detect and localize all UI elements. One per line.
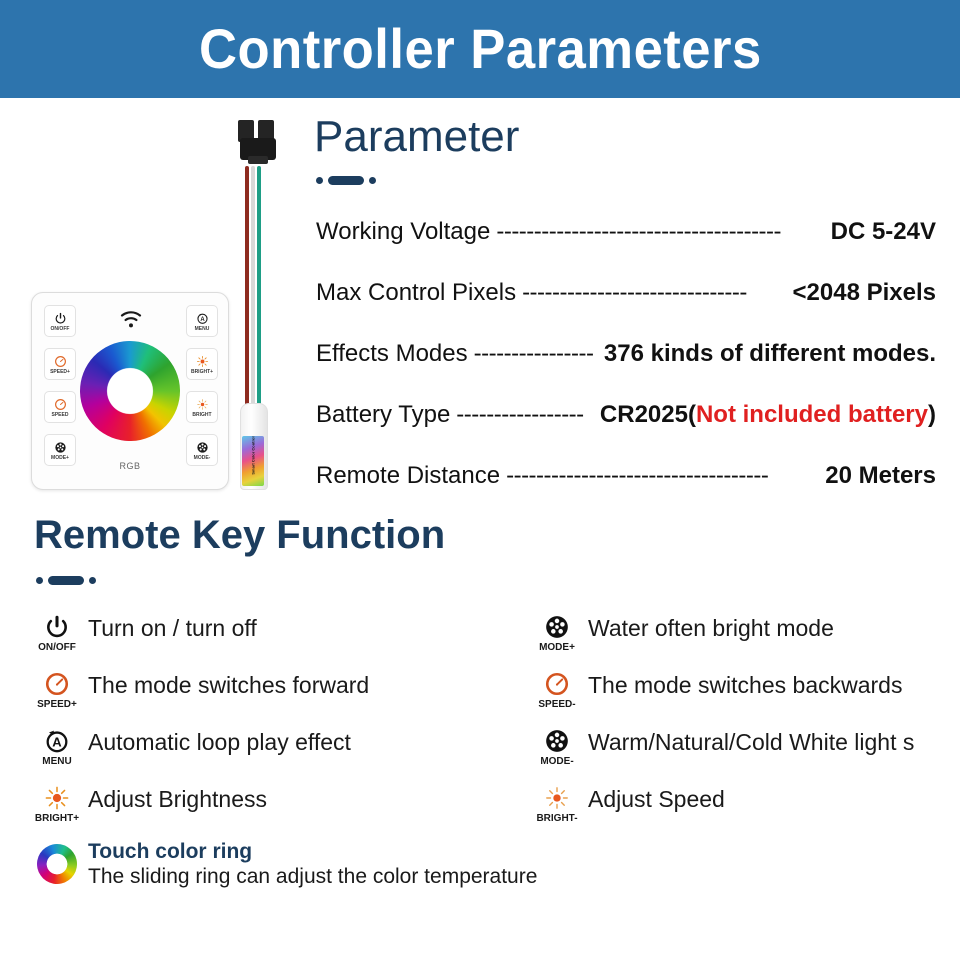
key-caption: ON/OFF xyxy=(38,643,76,653)
auto-loop-icon: A xyxy=(44,726,70,756)
parameter-value: CR2025 xyxy=(600,401,688,429)
controller-product-image: Smart Color Control xyxy=(232,118,290,488)
key-function-row: BRIGHT+ Adjust Brightness xyxy=(34,783,504,840)
key-function-row: A MENU Automatic loop play effect xyxy=(34,726,504,783)
key-icon-speed-minus: SPEED- xyxy=(534,669,580,710)
controller-label: Smart Color Control xyxy=(242,436,264,486)
power-icon xyxy=(44,612,70,642)
page-title: Controller Parameters xyxy=(199,21,762,77)
key-function-row: SPEED- The mode switches backwards xyxy=(534,669,960,726)
parameter-value: DC 5-24V xyxy=(831,218,936,246)
key-icon-speed-plus: SPEED+ xyxy=(34,669,80,710)
key-function-row: SPEED+ The mode switches forward xyxy=(34,669,504,726)
touch-color-ring-row: Touch color ring The sliding ring can ad… xyxy=(34,840,934,890)
remote-control-panel-image: ON/OFF SPEED+ SPEED xyxy=(31,292,229,490)
key-function-left-column: ON/OFF Turn on / turn off SPEED+ The mod… xyxy=(34,612,504,840)
key-description: The mode switches backwards xyxy=(580,669,960,699)
remote-button-caption: BRIGHT+ xyxy=(191,370,213,375)
sun-icon xyxy=(44,783,70,813)
divider-dot-right xyxy=(369,177,376,184)
key-function-row: MODE- Warm/Natural/Cold White light s xyxy=(534,726,960,783)
parameter-label: Remote Distance xyxy=(316,462,500,490)
key-description: Automatic loop play effect xyxy=(80,726,504,756)
remote-button-caption: ON/OFF xyxy=(51,327,70,332)
gauge-icon xyxy=(544,669,570,699)
parameter-note-open-paren: ( xyxy=(688,401,696,429)
gauge-icon xyxy=(44,669,70,699)
key-function-right-column: MODE+ Water often bright mode SPEED- The… xyxy=(534,612,960,840)
key-caption: SPEED- xyxy=(538,700,575,710)
touch-color-ring-description: The sliding ring can adjust the color te… xyxy=(88,864,934,890)
parameter-leader-dashes: ----------------- xyxy=(450,401,600,429)
parameter-row: Max Control Pixels ---------------------… xyxy=(316,279,936,340)
gauge-icon xyxy=(54,353,67,369)
parameter-label: Battery Type xyxy=(316,401,450,429)
key-icon-menu: A MENU xyxy=(34,726,80,767)
parameter-value: 20 Meters xyxy=(825,462,936,490)
cable-wire-white xyxy=(251,166,255,416)
color-ring-wheel xyxy=(29,836,85,892)
auto-loop-icon: A xyxy=(196,310,209,326)
key-description: Adjust Speed xyxy=(580,783,960,813)
parameter-label: Max Control Pixels xyxy=(316,279,516,307)
key-caption: BRIGHT- xyxy=(536,814,577,824)
parameter-label: Working Voltage xyxy=(316,218,490,246)
remote-button-menu[interactable]: A MENU xyxy=(186,305,218,337)
remote-button-speed-plus[interactable]: SPEED+ xyxy=(44,348,76,380)
remote-button-speed-minus[interactable]: SPEED xyxy=(44,391,76,423)
remote-button-caption: SPEED+ xyxy=(50,370,70,375)
gauge-icon xyxy=(54,396,67,412)
parameter-leader-dashes: ---------------- xyxy=(468,340,604,368)
remote-rgb-label: RGB xyxy=(32,461,228,471)
parameter-label: Effects Modes xyxy=(316,340,468,368)
key-description: Water often bright mode xyxy=(580,612,960,642)
power-icon xyxy=(54,310,67,326)
divider-dot-left xyxy=(316,177,323,184)
key-description: Turn on / turn off xyxy=(80,612,504,642)
remote-button-bright-plus[interactable]: BRIGHT+ xyxy=(186,348,218,380)
key-icon-mode-minus: MODE- xyxy=(534,726,580,767)
key-icon-bright-minus: BRIGHT- xyxy=(534,783,580,824)
key-caption: MODE- xyxy=(540,757,573,767)
cable-wire-red xyxy=(245,166,249,416)
remote-button-caption: MENU xyxy=(195,327,210,332)
key-caption: MODE+ xyxy=(539,643,575,653)
remote-key-section-heading: Remote Key Function xyxy=(34,515,445,555)
key-icon-onoff: ON/OFF xyxy=(34,612,80,653)
touch-color-ring-title: Touch color ring xyxy=(88,840,934,864)
divider-dot-left xyxy=(36,577,43,584)
remote-button-bright-minus[interactable]: BRIGHT xyxy=(186,391,218,423)
key-description: Warm/Natural/Cold White light s xyxy=(580,726,960,756)
header-banner: Controller Parameters xyxy=(0,0,960,98)
parameter-row: Working Voltage ------------------------… xyxy=(316,218,936,279)
mode-dots-icon xyxy=(196,439,209,455)
parameter-section-divider xyxy=(316,176,376,185)
parameter-leader-dashes: ------------------------------ xyxy=(516,279,792,307)
mode-dots-icon xyxy=(54,439,67,455)
parameter-leader-dashes: ----------------------------------- xyxy=(500,462,825,490)
parameter-row: Battery Type ----------------- CR2025 ( … xyxy=(316,401,936,462)
remote-button-caption: SPEED xyxy=(52,413,69,418)
sun-icon xyxy=(196,396,209,412)
parameter-list: Working Voltage ------------------------… xyxy=(316,218,936,523)
color-ring-icon xyxy=(34,840,80,884)
key-function-row: ON/OFF Turn on / turn off xyxy=(34,612,504,669)
remote-button-caption: BRIGHT xyxy=(192,413,211,418)
parameter-note: Not included battery xyxy=(696,401,928,429)
parameter-value: 376 kinds of different modes. xyxy=(604,340,936,368)
divider-dot-right xyxy=(89,577,96,584)
touch-color-ring-texts: Touch color ring The sliding ring can ad… xyxy=(80,840,934,890)
key-caption: SPEED+ xyxy=(37,700,77,710)
sun-icon xyxy=(196,353,209,369)
mode-dots-icon xyxy=(544,612,570,642)
svg-text:A: A xyxy=(200,316,205,322)
key-icon-bright-plus: BRIGHT+ xyxy=(34,783,80,824)
remote-button-onoff[interactable]: ON/OFF xyxy=(44,305,76,337)
key-caption: MENU xyxy=(42,757,71,767)
key-description: Adjust Brightness xyxy=(80,783,504,813)
key-function-row: BRIGHT- Adjust Speed xyxy=(534,783,960,840)
controller-label-text: Smart Color Control xyxy=(251,436,256,480)
key-icon-mode-plus: MODE+ xyxy=(534,612,580,653)
parameter-leader-dashes: -------------------------------------- xyxy=(490,218,830,246)
parameter-row: Effects Modes ---------------- 376 kinds… xyxy=(316,340,936,401)
key-function-row: MODE+ Water often bright mode xyxy=(534,612,960,669)
remote-key-section-divider xyxy=(36,576,96,585)
svg-text:A: A xyxy=(52,734,62,749)
parameter-section-heading: Parameter xyxy=(314,115,519,159)
key-caption: BRIGHT+ xyxy=(35,814,79,824)
key-description: The mode switches forward xyxy=(80,669,504,699)
parameter-value: <2048 Pixels xyxy=(793,279,936,307)
divider-dash xyxy=(328,176,364,185)
parameter-note-close-paren: ) xyxy=(928,401,936,429)
remote-color-wheel-center xyxy=(112,373,148,409)
mode-dots-icon xyxy=(544,726,570,756)
divider-dash xyxy=(48,576,84,585)
sun-icon xyxy=(544,783,570,813)
wifi-icon xyxy=(120,311,142,329)
jst-connector-icon xyxy=(236,118,280,170)
cable-wire-green xyxy=(257,166,261,416)
